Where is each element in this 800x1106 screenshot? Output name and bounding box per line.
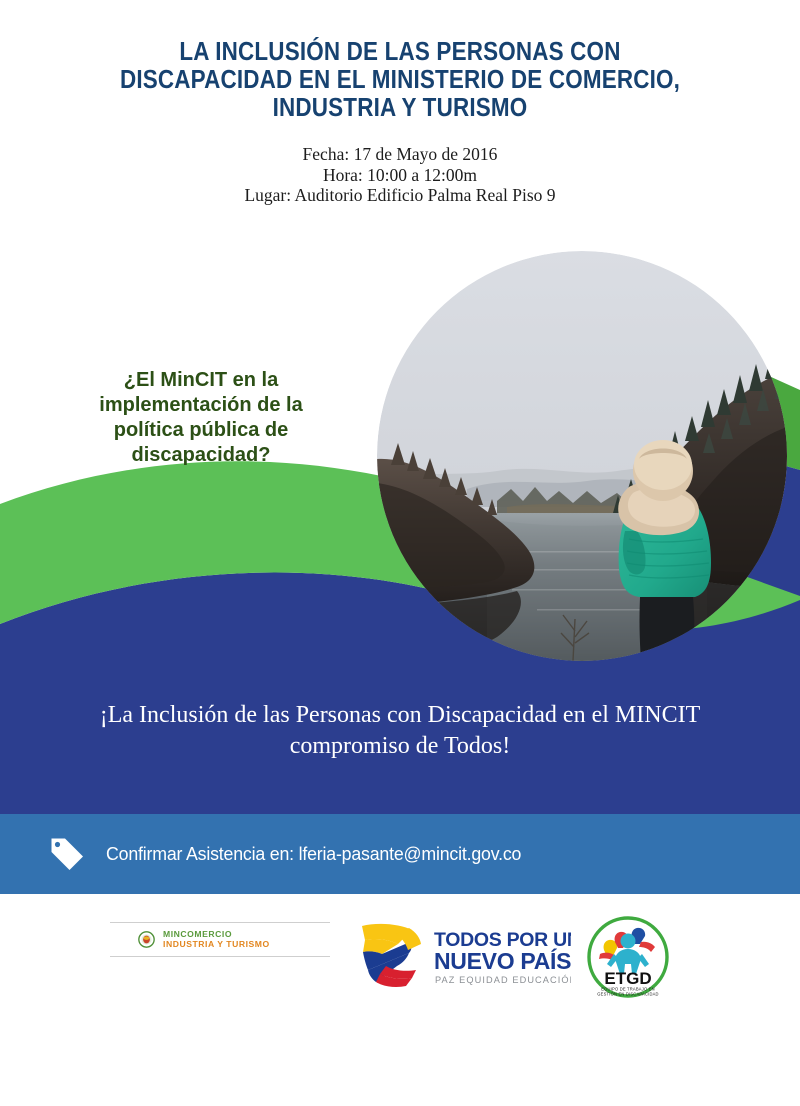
- poster-root: LA INCLUSIÓN DE LAS PERSONAS CON DISCAPA…: [0, 0, 800, 1106]
- slogan-line-2: compromiso de Todos!: [0, 731, 800, 762]
- todos-por-un-nuevo-pais-logo: TODOS POR UN NUEVO PAÍS PAZ EQUIDAD EDUC…: [356, 920, 571, 992]
- rule-bottom: [110, 956, 330, 957]
- title-line-2: DISCAPACIDAD EN EL MINISTERIO DE COMERCI…: [48, 66, 752, 94]
- mincomercio-line-2: INDUSTRIA Y TURISMO: [163, 940, 270, 950]
- colombia-seal-icon: [138, 931, 155, 948]
- todos-line-2: NUEVO PAÍS: [434, 947, 571, 974]
- todos-tagline: PAZ EQUIDAD EDUCACIÓN: [435, 975, 571, 985]
- question-line-1: ¿El MinCIT en la: [36, 368, 366, 393]
- slogan-text: ¡La Inclusión de las Personas con Discap…: [0, 700, 800, 762]
- photo-circle: [377, 251, 787, 661]
- footer-logos: MINCOMERCIO INDUSTRIA Y TURISMO TODOS PO…: [0, 900, 800, 1020]
- mincomercio-logo: MINCOMERCIO INDUSTRIA Y TURISMO: [110, 922, 330, 957]
- colombia-flag-ribbon-icon: [362, 924, 421, 987]
- question-text: ¿El MinCIT en la implementación de la po…: [36, 368, 366, 468]
- event-date: Fecha: 17 de Mayo de 2016: [0, 144, 800, 165]
- confirm-attendance-text: Confirmar Asistencia en: lferia-pasante@…: [106, 843, 521, 865]
- landscape-photo: [377, 251, 787, 661]
- etgd-logo: ETGD EQUIPO DE TRABAJO EN GESTIÓN EN DIS…: [578, 914, 678, 1000]
- question-line-4: discapacidad?: [36, 443, 366, 468]
- title-line-1: LA INCLUSIÓN DE LAS PERSONAS CON: [48, 38, 752, 66]
- question-line-3: política pública de: [36, 418, 366, 443]
- tag-icon: [48, 835, 86, 873]
- event-place: Lugar: Auditorio Edificio Palma Real Pis…: [0, 185, 800, 206]
- page-title: LA INCLUSIÓN DE LAS PERSONAS CON DISCAPA…: [48, 0, 752, 122]
- etgd-acronym: ETGD: [604, 969, 651, 988]
- slogan-line-1: ¡La Inclusión de las Personas con Discap…: [0, 700, 800, 731]
- header: LA INCLUSIÓN DE LAS PERSONAS CON DISCAPA…: [0, 0, 800, 206]
- question-line-2: implementación de la: [36, 393, 366, 418]
- event-details: Fecha: 17 de Mayo de 2016 Hora: 10:00 a …: [0, 144, 800, 206]
- etgd-subtitle-line-2: GESTIÓN EN DISCAPACIDAD: [597, 992, 658, 997]
- confirm-attendance-band: Confirmar Asistencia en: lferia-pasante@…: [0, 814, 800, 894]
- title-line-3: INDUSTRIA Y TURISMO: [48, 94, 752, 122]
- event-time: Hora: 10:00 a 12:00m: [0, 165, 800, 186]
